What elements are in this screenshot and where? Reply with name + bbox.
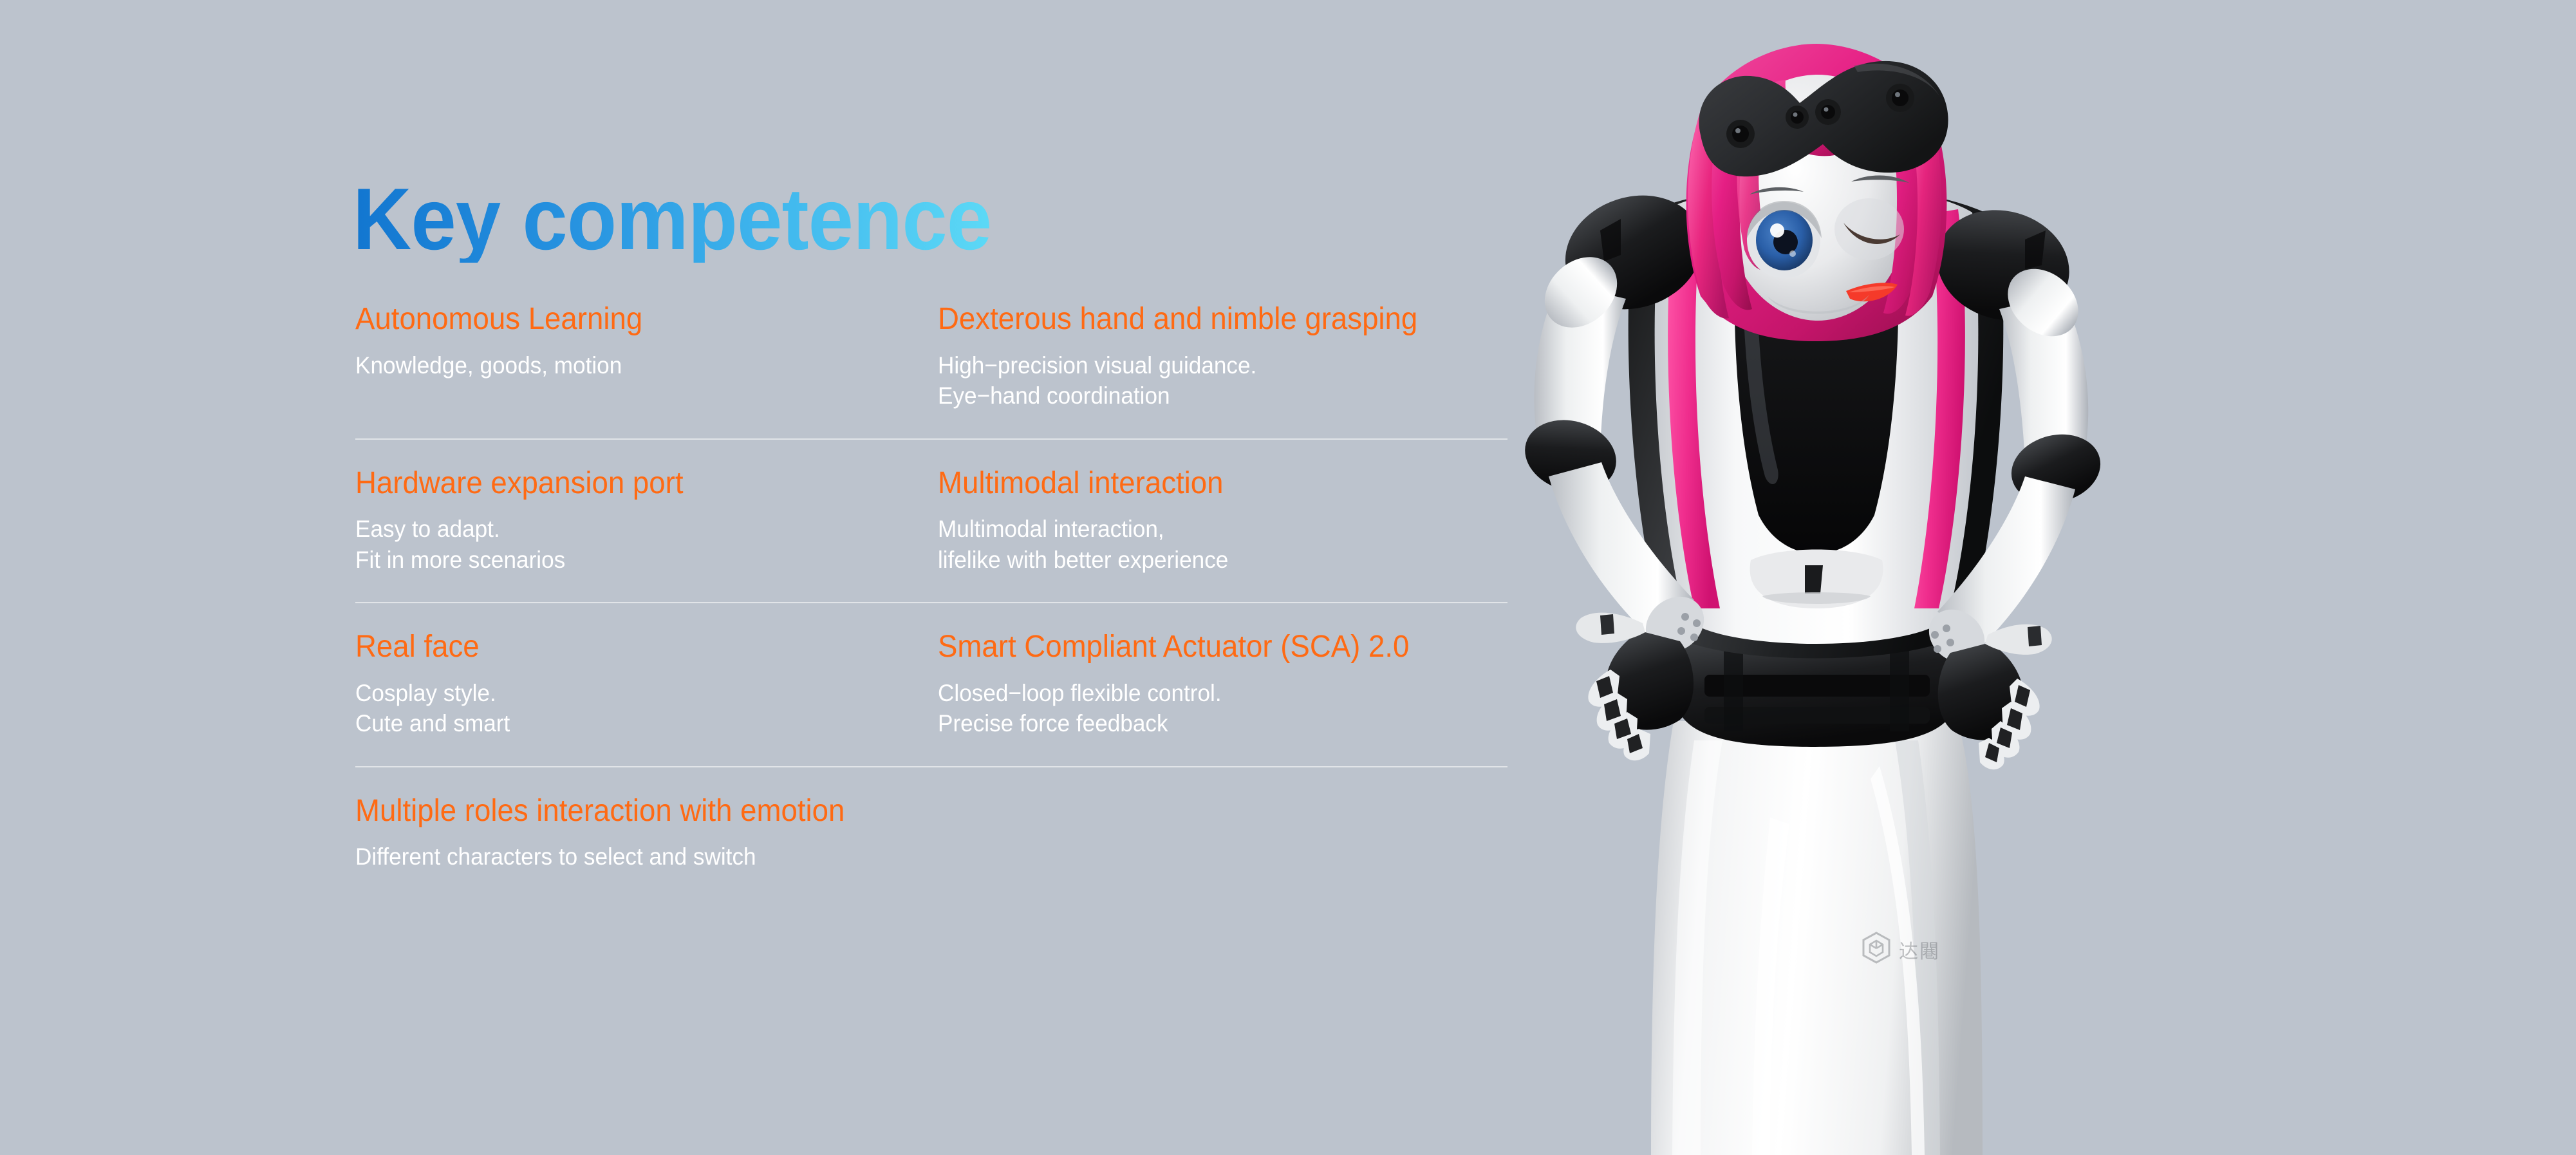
feature-body-line: Eye−hand coordination	[938, 380, 1479, 411]
feature-body-line: Precise force feedback	[938, 708, 1479, 738]
feature-body: Cosplay style. Cute and smart	[355, 678, 902, 739]
page-title: Key competence	[353, 175, 991, 263]
feature-heading: Dexterous hand and nimble grasping	[938, 303, 1479, 336]
robot-illustration	[1468, 26, 2111, 1155]
robot-head	[1686, 44, 1948, 341]
feature-item-smart-compliant-actuator[interactable]: Smart Compliant Actuator (SCA) 2.0 Close…	[931, 630, 1507, 739]
slide-canvas: Key competence Autonomous Learning Knowl…	[0, 0, 2576, 1155]
feature-heading: Multiple roles interaction with emotion	[355, 794, 1450, 828]
feature-body: Easy to adapt. Fit in more scenarios	[355, 514, 902, 575]
feature-body-line: High−precision visual guidance.	[938, 350, 1479, 380]
brand-watermark: 达闀	[1862, 932, 1940, 967]
feature-heading: Multimodal interaction	[938, 467, 1479, 500]
feature-item-dexterous-hand[interactable]: Dexterous hand and nimble grasping High−…	[931, 303, 1507, 411]
feature-body: Knowledge, goods, motion	[355, 350, 902, 380]
feature-item-multimodal-interaction[interactable]: Multimodal interaction Multimodal intera…	[931, 467, 1507, 576]
feature-body-line: lifelike with better experience	[938, 545, 1479, 575]
feature-body-line: Closed−loop flexible control.	[938, 678, 1479, 708]
feature-body-line: Easy to adapt.	[355, 514, 902, 544]
feature-body: Multimodal interaction, lifelike with be…	[938, 514, 1479, 575]
feature-body: Different characters to select and switc…	[355, 841, 1450, 872]
feature-heading: Smart Compliant Actuator (SCA) 2.0	[938, 630, 1479, 664]
feature-row: Autonomous Learning Knowledge, goods, mo…	[355, 303, 1507, 438]
feature-body: High−precision visual guidance. Eye−hand…	[938, 350, 1479, 411]
feature-item-autonomous-learning[interactable]: Autonomous Learning Knowledge, goods, mo…	[355, 303, 931, 411]
feature-row: Real face Cosplay style. Cute and smart …	[355, 603, 1507, 766]
feature-heading: Real face	[355, 630, 902, 664]
feature-body-line: Cosplay style.	[355, 678, 902, 708]
feature-body-line: Fit in more scenarios	[355, 545, 902, 575]
feature-grid: Autonomous Learning Knowledge, goods, mo…	[355, 303, 1507, 872]
feature-item-hardware-expansion-port[interactable]: Hardware expansion port Easy to adapt. F…	[355, 467, 931, 576]
feature-body-line: Knowledge, goods, motion	[355, 350, 902, 380]
brand-watermark-text: 达闀	[1899, 935, 1940, 964]
feature-body-line: Cute and smart	[355, 708, 902, 738]
feature-heading: Hardware expansion port	[355, 467, 902, 500]
eye-wink	[1834, 198, 1904, 260]
eye-open	[1747, 201, 1822, 278]
feature-body-line: Different characters to select and switc…	[355, 841, 1450, 872]
feature-item-real-face[interactable]: Real face Cosplay style. Cute and smart	[355, 630, 931, 739]
cube-hexagon-logo-icon	[1862, 932, 1891, 967]
feature-body: Closed−loop flexible control. Precise fo…	[938, 678, 1479, 739]
feature-heading: Autonomous Learning	[355, 303, 902, 336]
feature-item-multiple-roles-interaction[interactable]: Multiple roles interaction with emotion …	[355, 794, 1507, 872]
feature-row: Multiple roles interaction with emotion …	[355, 767, 1507, 872]
feature-body-line: Multimodal interaction,	[938, 514, 1479, 544]
feature-row: Hardware expansion port Easy to adapt. F…	[355, 440, 1507, 603]
